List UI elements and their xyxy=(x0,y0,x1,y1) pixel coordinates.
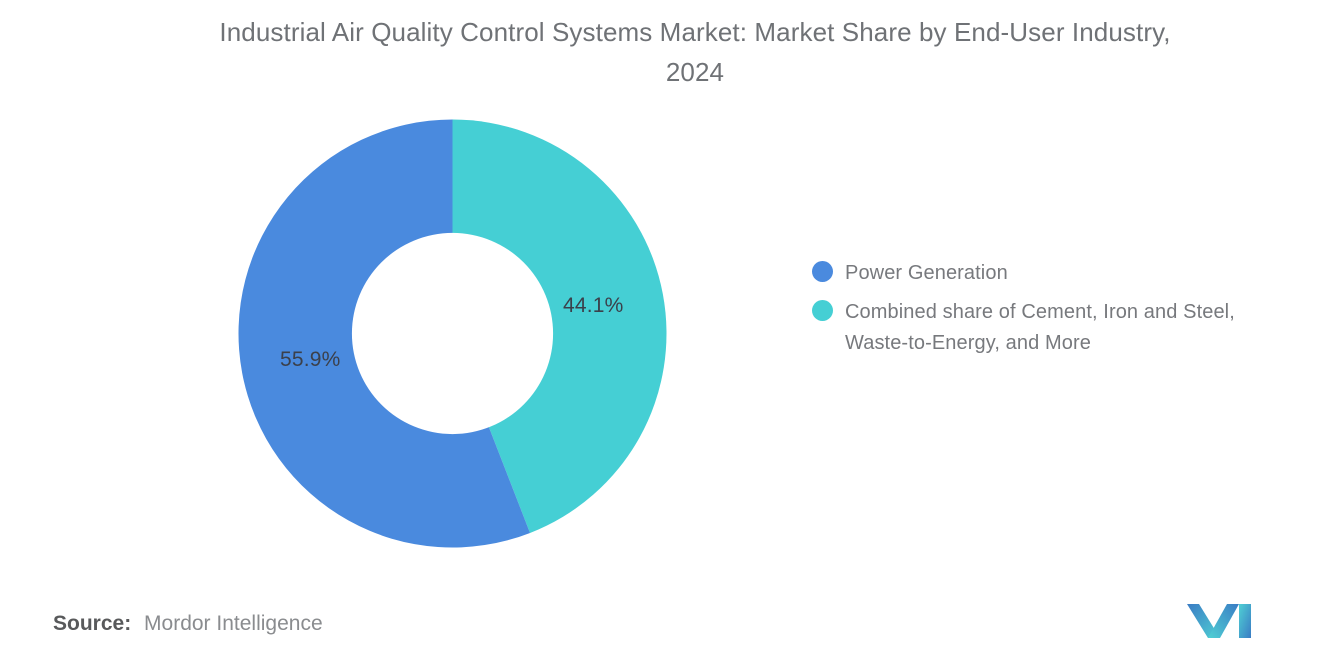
source-label: Source: xyxy=(53,612,131,635)
legend-item-power-generation[interactable]: Power Generation xyxy=(812,258,1292,289)
donut-chart: 55.9% 44.1% xyxy=(238,119,667,548)
legend-label-combined-share: Combined share of Cement, Iron and Steel… xyxy=(845,297,1292,359)
legend-item-combined-share[interactable]: Combined share of Cement, Iron and Steel… xyxy=(812,297,1292,359)
logo-svg xyxy=(1186,600,1252,640)
chart-title-line-1: Industrial Air Quality Control Systems M… xyxy=(219,17,1064,47)
legend-swatch-icon-power-generation xyxy=(812,261,833,282)
donut-label-power-generation: 55.9% xyxy=(280,348,341,372)
page-title: Industrial Air Quality Control Systems M… xyxy=(190,12,1200,92)
source-line: Source: Mordor Intelligence xyxy=(53,612,323,636)
mordor-intelligence-logo-icon xyxy=(1186,600,1252,640)
donut-chart-svg xyxy=(238,119,667,548)
donut-label-combined-share: 44.1% xyxy=(563,294,624,318)
chart-legend: Power Generation Combined share of Cemen… xyxy=(812,258,1292,367)
donut-center-hole xyxy=(352,233,553,434)
legend-label-power-generation: Power Generation xyxy=(845,258,1008,289)
source-value: Mordor Intelligence xyxy=(144,612,323,635)
legend-swatch-icon-combined-share xyxy=(812,300,833,321)
